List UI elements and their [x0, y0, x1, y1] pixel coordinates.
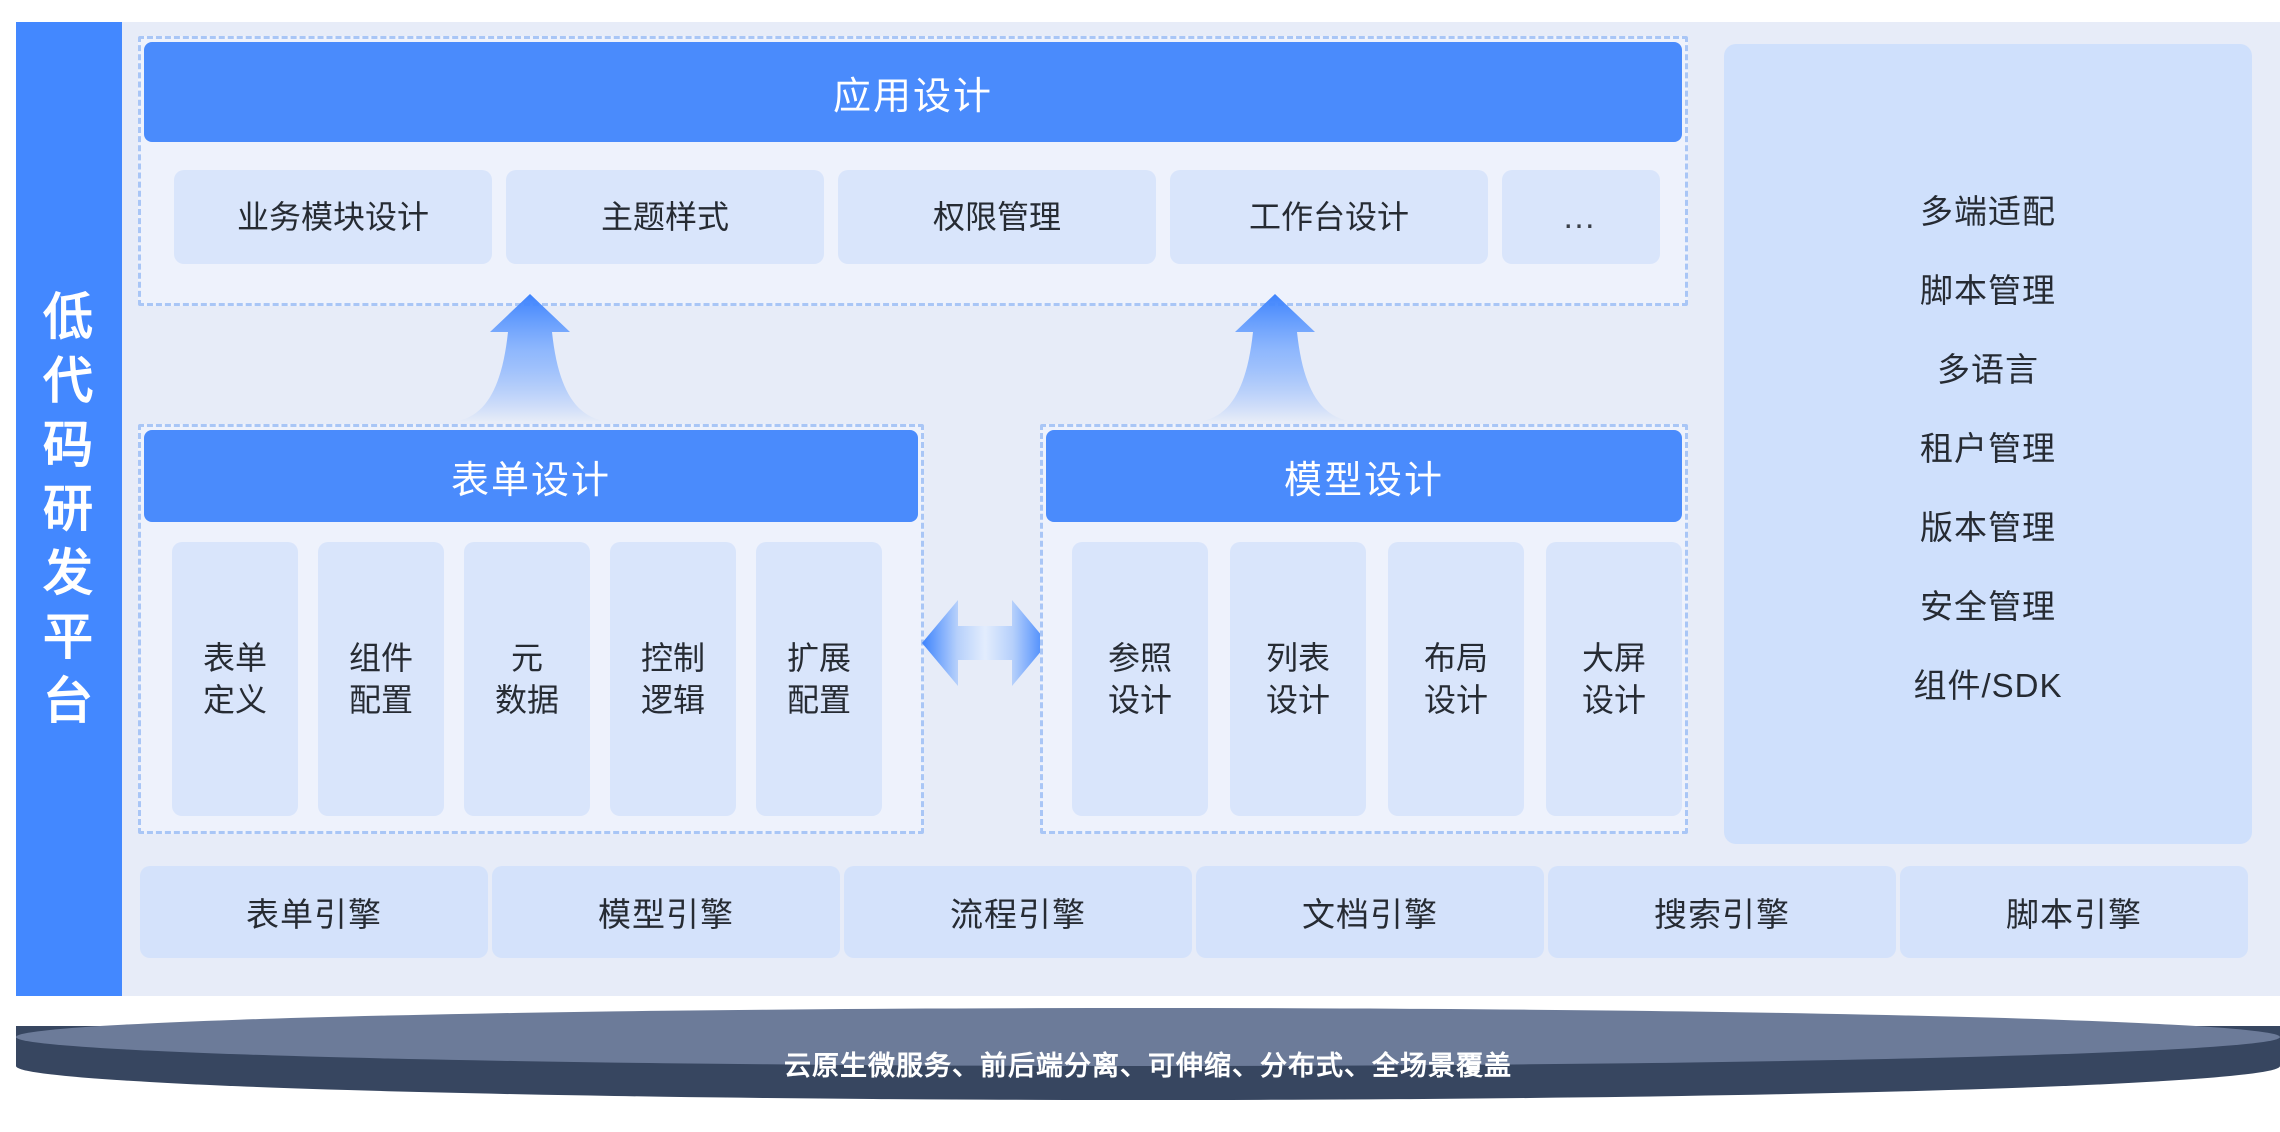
capability-item-3[interactable]: 租户管理	[1920, 422, 2056, 470]
model-design-chip-1[interactable]: 列表 设计	[1230, 542, 1366, 816]
app-design-chip-2[interactable]: 权限管理	[838, 170, 1156, 264]
form-design-chip-2[interactable]: 元 数据	[464, 542, 590, 816]
diagram-root: 低代码研发平台 应用设计 业务模块设计 主题样式 权限管理 工作台设计 …	[0, 0, 2280, 1132]
capability-item-1[interactable]: 脚本管理	[1920, 264, 2056, 312]
engine-item-4[interactable]: 搜索引擎	[1548, 866, 1896, 958]
model-design-header[interactable]: 模型设计	[1046, 430, 1682, 522]
capability-item-5[interactable]: 安全管理	[1920, 580, 2056, 628]
capability-item-4[interactable]: 版本管理	[1920, 501, 2056, 549]
form-design-chip-3[interactable]: 控制 逻辑	[610, 542, 736, 816]
brand-title: 低代码研发平台	[39, 285, 99, 733]
app-design-chip-0[interactable]: 业务模块设计	[174, 170, 492, 264]
engine-item-3[interactable]: 文档引擎	[1196, 866, 1544, 958]
platform-base: 云原生微服务、前后端分离、可伸缩、分布式、全场景覆盖	[16, 1008, 2280, 1112]
capability-item-6[interactable]: 组件/SDK	[1913, 659, 2062, 707]
engine-item-0[interactable]: 表单引擎	[140, 866, 488, 958]
form-design-header[interactable]: 表单设计	[144, 430, 918, 522]
app-design-chip-more[interactable]: …	[1502, 170, 1660, 264]
app-design-chip-1[interactable]: 主题样式	[506, 170, 824, 264]
engine-item-1[interactable]: 模型引擎	[492, 866, 840, 958]
capabilities-panel: 多端适配 脚本管理 多语言 租户管理 版本管理 安全管理 组件/SDK	[1724, 44, 2252, 844]
arrow-up-model-to-app	[1185, 292, 1485, 422]
arrow-up-form-to-app	[440, 292, 740, 422]
capability-item-0[interactable]: 多端适配	[1920, 185, 2056, 233]
engine-item-2[interactable]: 流程引擎	[844, 866, 1192, 958]
form-design-chip-4[interactable]: 扩展 配置	[756, 542, 882, 816]
form-design-chip-0[interactable]: 表单 定义	[172, 542, 298, 816]
app-design-header[interactable]: 应用设计	[144, 42, 1682, 142]
form-design-chip-1[interactable]: 组件 配置	[318, 542, 444, 816]
arrow-bidirectional-form-model	[920, 588, 1050, 698]
engine-item-5[interactable]: 脚本引擎	[1900, 866, 2248, 958]
platform-caption: 云原生微服务、前后端分离、可伸缩、分布式、全场景覆盖	[16, 1044, 2280, 1083]
model-design-chip-3[interactable]: 大屏 设计	[1546, 542, 1682, 816]
model-design-chip-2[interactable]: 布局 设计	[1388, 542, 1524, 816]
app-design-chip-3[interactable]: 工作台设计	[1170, 170, 1488, 264]
model-design-chip-0[interactable]: 参照 设计	[1072, 542, 1208, 816]
capability-item-2[interactable]: 多语言	[1937, 343, 2039, 391]
brand-sidebar: 低代码研发平台	[16, 22, 122, 996]
